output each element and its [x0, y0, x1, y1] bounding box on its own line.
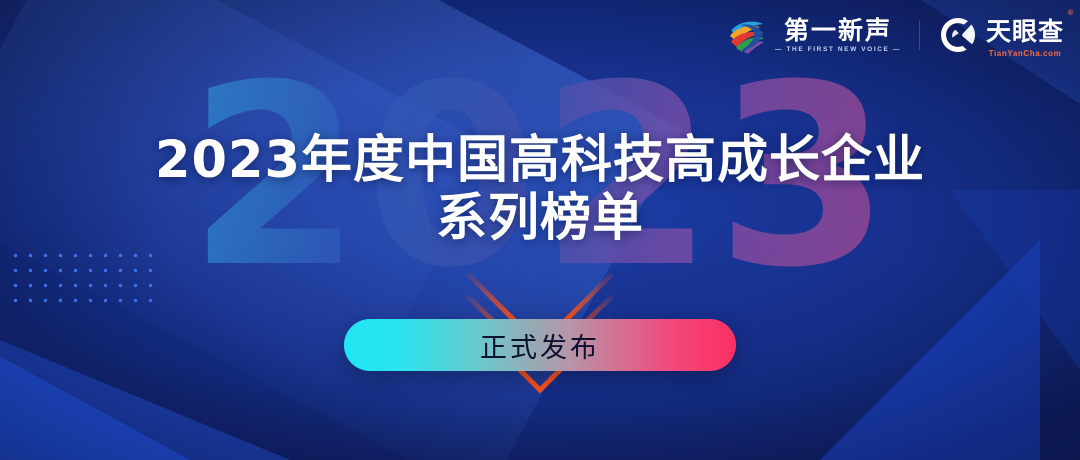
promo-banner: 2023 2023年度中国高科技高成长企业 系列榜单 正式发布	[0, 0, 1080, 460]
triangle-bottom-left-front	[0, 340, 290, 460]
logo-tianyancha-cn: 天眼查®	[986, 12, 1064, 48]
logo-tianyancha-en: TianYanCha.com	[989, 49, 1062, 58]
logo-tianyancha-cn-text: 天眼查	[986, 18, 1064, 46]
logo-tianyancha[interactable]: 天眼查® TianYanCha.com	[938, 12, 1064, 58]
logo-divider	[919, 20, 920, 50]
release-status-pill[interactable]: 正式发布	[344, 319, 736, 371]
registered-mark-icon: ®	[1068, 10, 1073, 17]
logo-diyixinsheng-cn: 第一新声	[784, 17, 892, 44]
logo-diyixinsheng[interactable]: 第一新声 — THE FIRST NEW VOICE —	[727, 15, 901, 55]
tianyancha-eye-icon	[938, 15, 978, 55]
triangle-bottom-left	[0, 340, 300, 460]
headline-line-2: 系列榜单	[0, 190, 1080, 248]
logo-diyixinsheng-en: — THE FIRST NEW VOICE —	[775, 46, 901, 53]
page-title: 2023年度中国高科技高成长企业 系列榜单	[0, 132, 1080, 248]
release-status-label: 正式发布	[480, 326, 600, 365]
swoosh-logo-icon	[727, 15, 767, 55]
logo-bar: 第一新声 — THE FIRST NEW VOICE — 天眼查® TianYa…	[727, 12, 1064, 58]
headline-line-1: 2023年度中国高科技高成长企业	[155, 131, 925, 190]
